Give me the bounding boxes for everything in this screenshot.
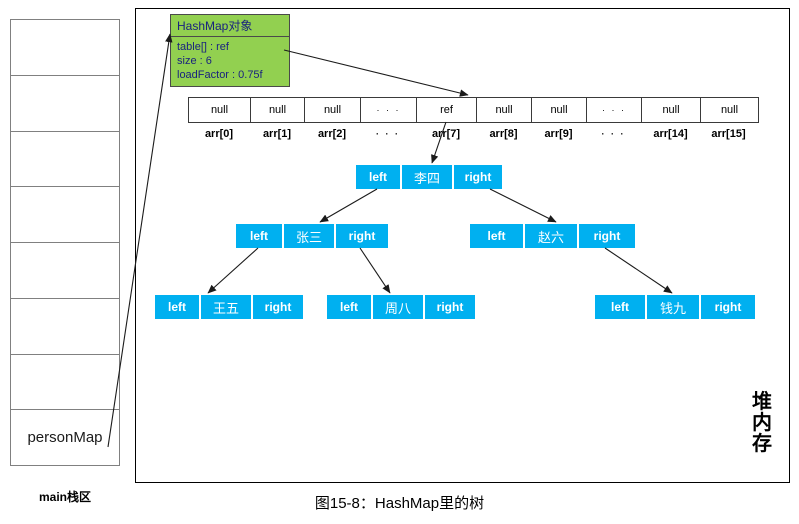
tree-node-zhaoliu-value: 赵六 — [525, 224, 579, 248]
tree-node-lisi-right: right — [454, 165, 502, 189]
tree-node-lisi: left 李四 right — [356, 165, 502, 189]
tree-node-zhangsan: left 张三 right — [236, 224, 388, 248]
tree-node-wangwu: left 王五 right — [155, 295, 303, 319]
array-cell-9: null — [532, 98, 587, 122]
tree-node-qianjiu: left 钱九 right — [595, 295, 755, 319]
tree-node-lisi-left: left — [356, 165, 402, 189]
figure-caption: 图15-8：HashMap里的树 — [0, 492, 799, 513]
tree-node-zhouba-right: right — [425, 295, 475, 319]
diagram-canvas: personMap main栈区 堆内存 HashMap对象 table[] :… — [0, 0, 799, 524]
tree-node-wangwu-value: 王五 — [201, 295, 253, 319]
tree-node-zhangsan-right: right — [336, 224, 388, 248]
tree-node-wangwu-right: right — [253, 295, 303, 319]
array-label-1: arr[1] — [250, 126, 304, 142]
array-cell-2: null — [305, 98, 361, 122]
array-cell-1: null — [251, 98, 305, 122]
array-label-7: arr[7] — [416, 126, 476, 142]
stack-cell — [11, 187, 119, 243]
tree-node-zhouba-value: 周八 — [373, 295, 425, 319]
tree-node-qianjiu-right: right — [701, 295, 755, 319]
array-label-8: arr[8] — [476, 126, 531, 142]
tree-node-lisi-value: 李四 — [402, 165, 454, 189]
array-cell-ellipsis-left: · · · — [361, 98, 417, 122]
stack-cell — [11, 355, 119, 411]
hashmap-object-title: HashMap对象 — [171, 15, 289, 37]
stack-cell-personmap: personMap — [11, 410, 119, 465]
array-label-ellipsis-right: · · · — [586, 126, 641, 142]
stack-cell — [11, 299, 119, 355]
tree-node-zhangsan-left: left — [236, 224, 284, 248]
stack-cell — [11, 20, 119, 76]
array-label-14: arr[14] — [641, 126, 700, 142]
array-cell-ellipsis-right: · · · — [587, 98, 642, 122]
tree-node-zhaoliu-left: left — [470, 224, 525, 248]
tree-node-zhangsan-value: 张三 — [284, 224, 336, 248]
main-stack-box: personMap — [10, 19, 120, 466]
array-label-ellipsis-left: · · · — [360, 126, 416, 142]
array-cell-14: null — [642, 98, 701, 122]
hashmap-field-size: size : 6 — [177, 54, 283, 68]
stack-cell — [11, 243, 119, 299]
array-cell-7: ref — [417, 98, 477, 122]
array-cell-15: null — [701, 98, 758, 122]
tree-node-qianjiu-left: left — [595, 295, 647, 319]
heap-memory-label: 堆内存 — [748, 392, 776, 455]
hashmap-object-fields: table[] : ref size : 6 loadFactor : 0.75… — [171, 37, 289, 86]
array-label-15: arr[15] — [700, 126, 757, 142]
tree-node-zhouba: left 周八 right — [327, 295, 475, 319]
hashmap-field-table: table[] : ref — [177, 40, 283, 54]
tree-node-wangwu-left: left — [155, 295, 201, 319]
array-cell-8: null — [477, 98, 532, 122]
array-cell-0: null — [189, 98, 251, 122]
hashmap-object-box: HashMap对象 table[] : ref size : 6 loadFac… — [170, 14, 290, 87]
bucket-array: null null null · · · ref null null · · ·… — [188, 97, 759, 123]
array-label-2: arr[2] — [304, 126, 360, 142]
array-label-9: arr[9] — [531, 126, 586, 142]
tree-node-zhouba-left: left — [327, 295, 373, 319]
stack-cell — [11, 76, 119, 132]
stack-cell — [11, 132, 119, 188]
tree-node-zhaoliu: left 赵六 right — [470, 224, 635, 248]
hashmap-field-loadfactor: loadFactor : 0.75f — [177, 68, 283, 82]
bucket-array-labels: arr[0] arr[1] arr[2] · · · arr[7] arr[8]… — [188, 126, 757, 142]
tree-node-zhaoliu-right: right — [579, 224, 635, 248]
array-label-0: arr[0] — [188, 126, 250, 142]
tree-node-qianjiu-value: 钱九 — [647, 295, 701, 319]
